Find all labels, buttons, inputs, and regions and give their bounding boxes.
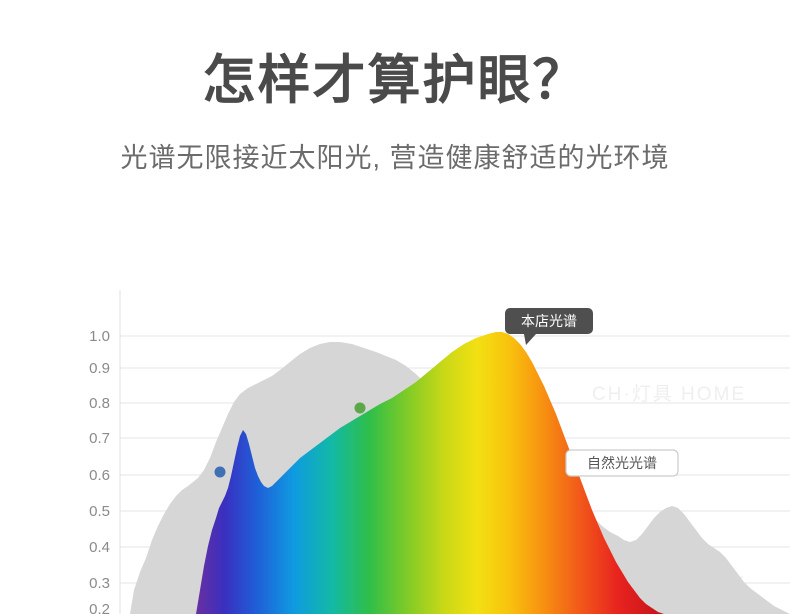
natural-callout: 自然光光谱 xyxy=(566,450,678,476)
page-title: 怎样才算护眼？ xyxy=(0,52,790,110)
y-tick-0_7: 0.7 xyxy=(89,430,110,447)
chart-svg: 1.0 0.9 0.8 0.7 0.6 0.5 0.4 0.3 0.2 CH·灯… xyxy=(0,290,790,614)
y-tick-0_5: 0.5 xyxy=(89,503,110,520)
y-tick-1_0: 1.0 xyxy=(89,328,110,345)
y-tick-0_3: 0.3 xyxy=(89,575,110,592)
blue-point-marker xyxy=(215,467,226,478)
header: 怎样才算护眼？ 光谱无限接近太阳光, 营造健康舒适的光环境 xyxy=(0,0,790,175)
y-tick-0_4: 0.4 xyxy=(89,539,110,556)
green-point-marker xyxy=(355,403,366,414)
page-subtitle: 光谱无限接近太阳光, 营造健康舒适的光环境 xyxy=(0,136,790,175)
y-tick-0_9: 0.9 xyxy=(89,360,110,377)
page-root: 怎样才算护眼？ 光谱无限接近太阳光, 营造健康舒适的光环境 xyxy=(0,0,790,614)
y-tick-labels: 1.0 0.9 0.8 0.7 0.6 0.5 0.4 0.3 0.2 xyxy=(89,328,110,614)
y-tick-0_8: 0.8 xyxy=(89,395,110,412)
product-callout-label: 本店光谱 xyxy=(521,313,577,329)
watermark-2: CH·灯具 HOME xyxy=(592,383,746,405)
natural-callout-label: 自然光光谱 xyxy=(587,455,657,471)
y-tick-0_2: 0.2 xyxy=(89,601,110,614)
y-tick-0_6: 0.6 xyxy=(89,467,110,484)
spectrum-chart: 1.0 0.9 0.8 0.7 0.6 0.5 0.4 0.3 0.2 CH·灯… xyxy=(0,290,790,614)
